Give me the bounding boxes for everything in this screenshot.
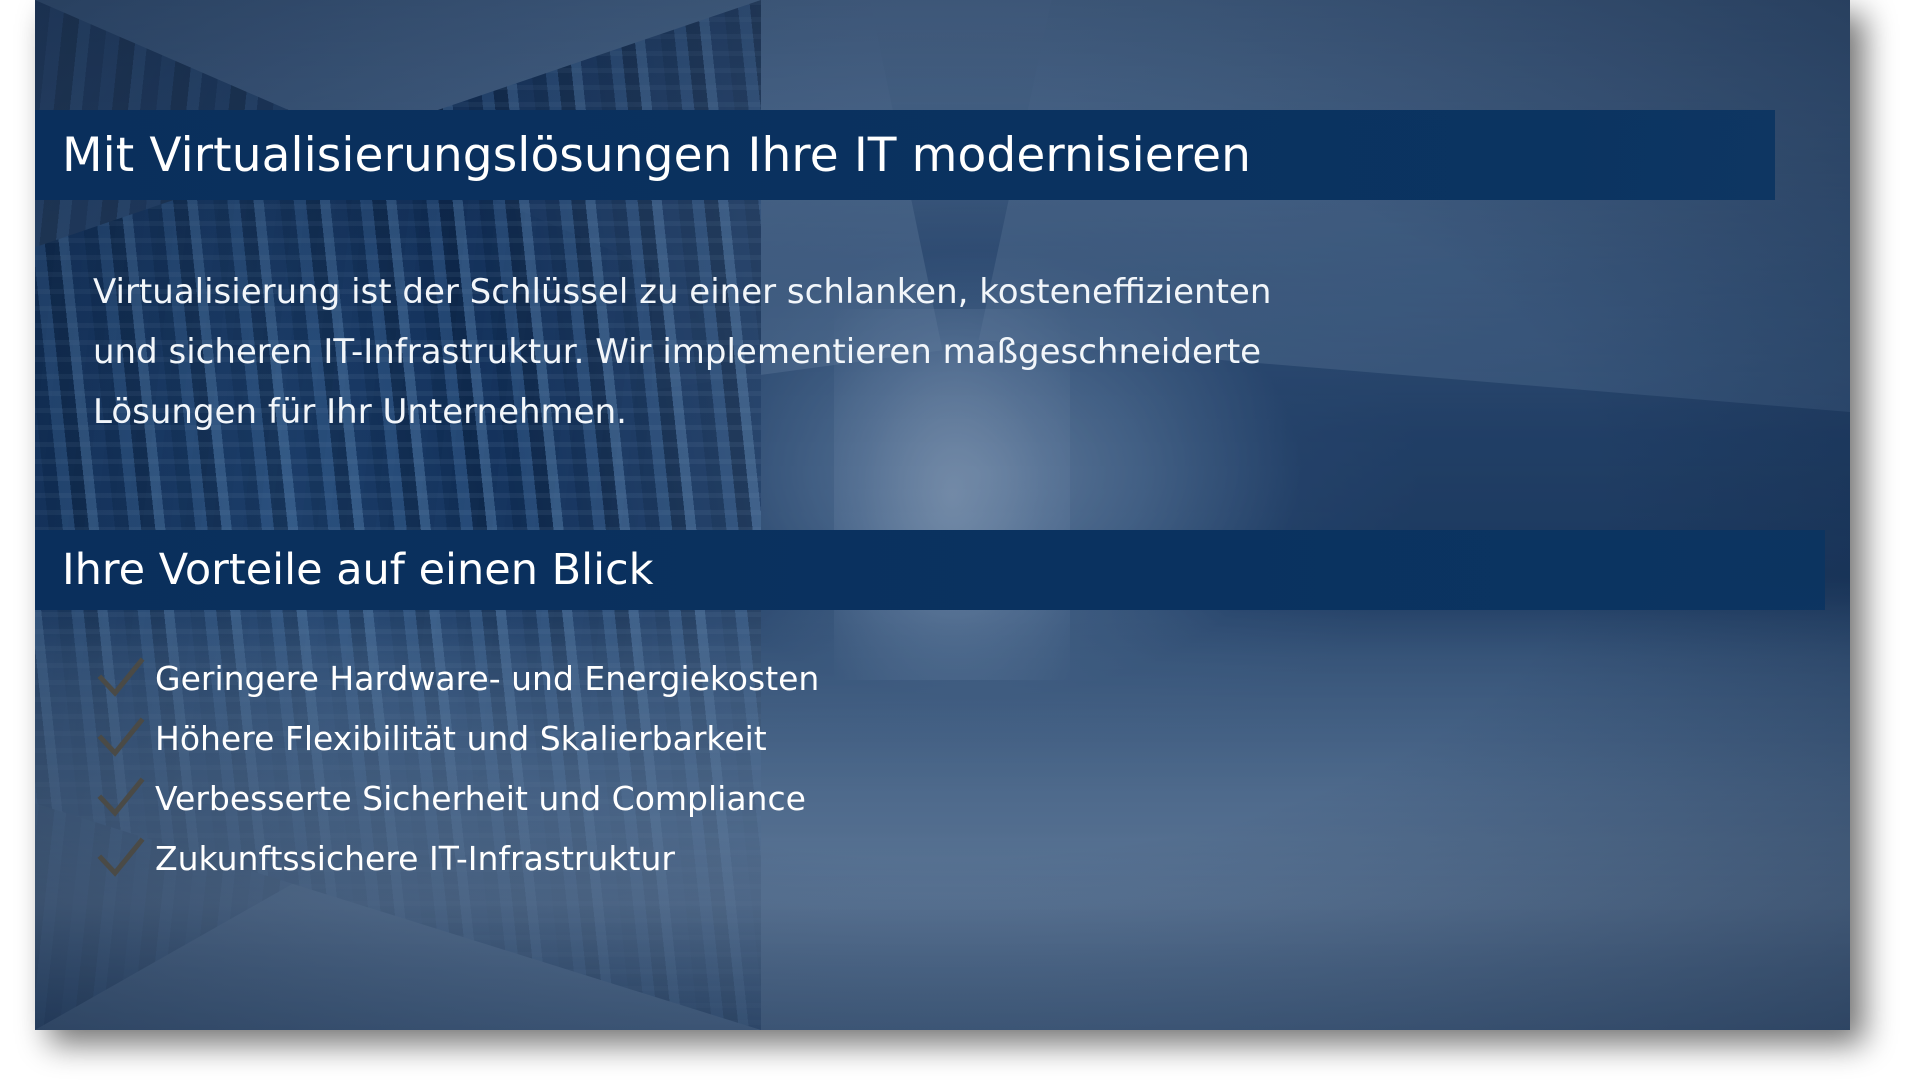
intro-paragraph-line-3: Lösungen für Ihr Unternehmen. <box>93 382 1413 442</box>
intro-paragraph: Virtualisierung ist der Schlüssel zu ein… <box>93 262 1413 442</box>
presentation-slide[interactable]: Mit Virtualisierungslösungen Ihre IT mod… <box>35 0 1850 1030</box>
benefit-label: Zukunftssichere IT-Infrastruktur <box>155 842 675 875</box>
check-icon <box>97 716 145 760</box>
page-title: Mit Virtualisierungslösungen Ihre IT mod… <box>62 132 1251 179</box>
benefit-label: Höhere Flexibilität und Skalierbarkeit <box>155 722 767 755</box>
section-banner: Ihre Vorteile auf einen Blick <box>35 530 1825 610</box>
check-icon <box>97 656 145 700</box>
title-banner: Mit Virtualisierungslösungen Ihre IT mod… <box>35 110 1775 200</box>
check-icon <box>97 776 145 820</box>
benefits-list: Geringere Hardware- und Energiekosten Hö… <box>97 648 819 888</box>
slide-content: Mit Virtualisierungslösungen Ihre IT mod… <box>35 0 1850 1030</box>
list-item: Verbesserte Sicherheit und Compliance <box>97 768 819 828</box>
benefit-label: Verbesserte Sicherheit und Compliance <box>155 782 806 815</box>
list-item: Zukunftssichere IT-Infrastruktur <box>97 828 819 888</box>
benefit-label: Geringere Hardware- und Energiekosten <box>155 662 819 695</box>
slide-container: Mit Virtualisierungslösungen Ihre IT mod… <box>35 0 1850 1030</box>
intro-paragraph-line-1: Virtualisierung ist der Schlüssel zu ein… <box>93 262 1413 322</box>
check-icon <box>97 836 145 880</box>
list-item: Geringere Hardware- und Energiekosten <box>97 648 819 708</box>
intro-paragraph-line-2: und sicheren IT-Infrastruktur. Wir imple… <box>93 322 1413 382</box>
section-heading: Ihre Vorteile auf einen Blick <box>62 549 654 592</box>
list-item: Höhere Flexibilität und Skalierbarkeit <box>97 708 819 768</box>
